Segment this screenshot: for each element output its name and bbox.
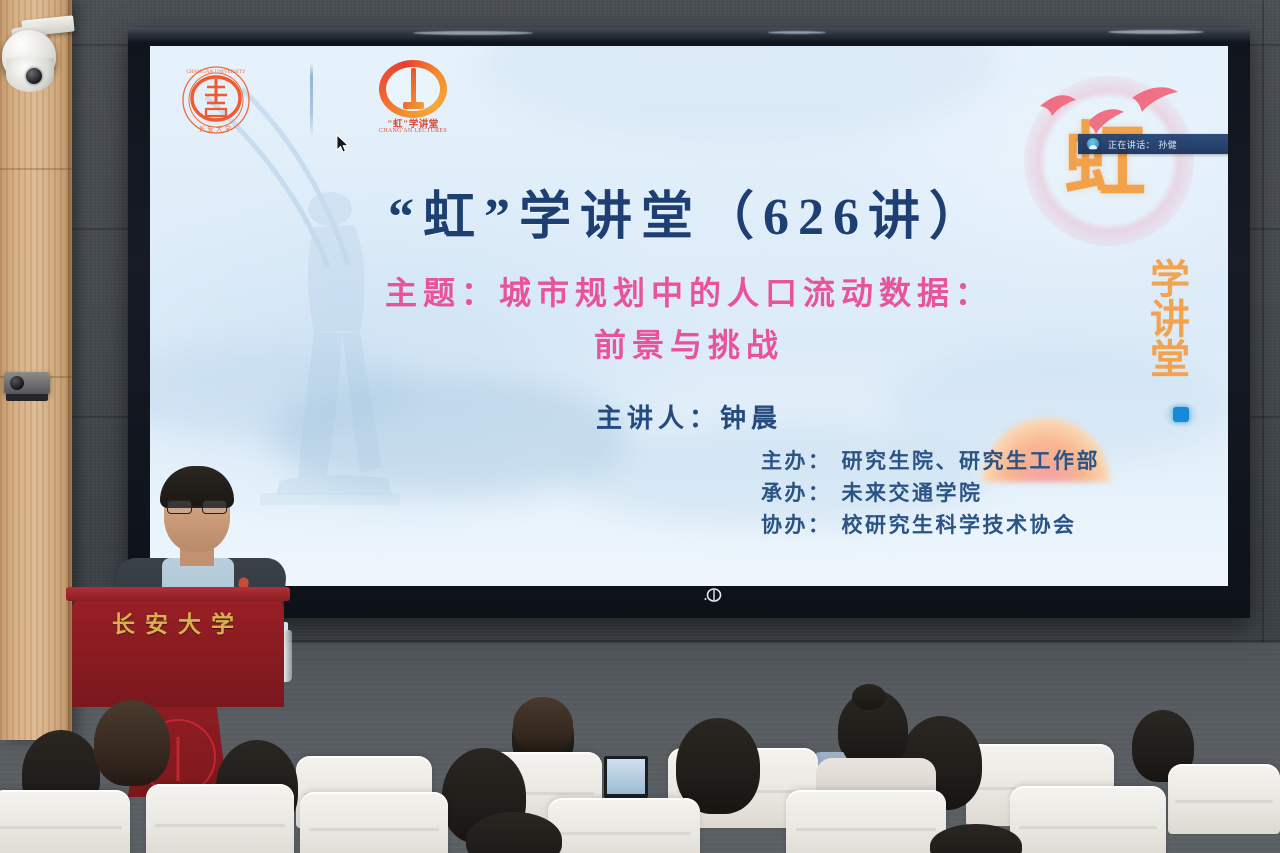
speaker-avatar-icon: [1087, 138, 1099, 150]
svg-text:CHANG'AN UNIVERSITY: CHANG'AN UNIVERSITY: [186, 69, 246, 75]
page-title: “虹”学讲堂（626讲）: [150, 174, 1228, 249]
laptop-icon: [604, 756, 648, 798]
mouse-pointer-icon: [336, 134, 349, 153]
audience-head: [513, 697, 573, 753]
audience-chair: [146, 784, 294, 853]
audience-chair: [1010, 786, 1166, 853]
wooden-pillar: [0, 0, 72, 740]
audience-chair: [548, 798, 700, 853]
audience-chair: [1168, 764, 1280, 834]
logo-brand-en: CHANG'AN LECTURES: [371, 128, 455, 134]
bezel-glint: [413, 31, 533, 35]
organizer-row: 主办：研究生院、研究生工作部: [761, 446, 1100, 478]
organizer-label: 承办：: [761, 481, 832, 505]
audience-chair: [0, 790, 130, 853]
camera-lens-icon: [26, 68, 42, 84]
organizer-value: 研究生院、研究生工作部: [842, 449, 1101, 473]
changan-university-logo-icon: CHANG'AN UNIVERSITY 长安大学: [180, 64, 252, 136]
hong-lecture-logo-icon: "虹"学讲堂 CHANG'AN LECTURES: [371, 60, 455, 140]
slide-subtitle-line2: 前景与挑战: [150, 320, 1228, 372]
audience-hair-bun: [852, 684, 886, 710]
bezel-glint: [768, 31, 826, 34]
slide-speaker-line: 主讲人：钟晨: [150, 398, 1228, 435]
ink-wash: [480, 46, 1000, 136]
organizer-row: 协办：校研究生科学技术协会: [761, 510, 1100, 542]
speaking-status-text: 正在讲话： 孙健: [1108, 138, 1177, 151]
logo-tower: [411, 68, 416, 108]
organizer-label: 协办：: [761, 513, 832, 537]
organizer-row: 承办：未来交通学院: [761, 478, 1100, 510]
audience-chair: [300, 792, 448, 853]
slide-subtitle: 主题：城市规划中的人口流动数据： 前景与挑战: [150, 268, 1228, 372]
audience-head: [94, 700, 170, 786]
podium-label: 长安大学: [72, 605, 284, 639]
organizer-label: 主办：: [761, 449, 832, 473]
organizer-value: 未来交通学院: [842, 481, 983, 505]
svg-text:长安大学: 长安大学: [198, 124, 233, 133]
slide-logo-row: CHANG'AN UNIVERSITY 长安大学 "虹"学讲堂 CHANG'AN…: [180, 60, 455, 140]
organizer-value: 校研究生科学技术协会: [842, 513, 1077, 537]
brush-divider: [310, 63, 313, 137]
organizer-block: 主办：研究生院、研究生工作部 承办：未来交通学院 协办：校研究生科学技术协会: [761, 446, 1100, 542]
wall-camera-lens-icon: [10, 376, 24, 390]
speaking-indicator-bar[interactable]: 正在讲话： 孙健: [1078, 134, 1228, 154]
pillar-seam: [0, 168, 72, 170]
laptop-screen: [607, 759, 645, 794]
podium-top-surface: [66, 587, 290, 601]
slide-subtitle-line1: 主题：城市规划中的人口流动数据：: [150, 268, 1228, 320]
display-brand-logo-icon: [703, 587, 725, 603]
eyeglasses-icon: [167, 500, 227, 514]
audience-chair: [786, 790, 946, 853]
bezel-glint: [1108, 30, 1204, 34]
lecture-hall-scene: CHANG'AN UNIVERSITY 长安大学 "虹"学讲堂 CHANG'AN…: [0, 0, 1280, 853]
